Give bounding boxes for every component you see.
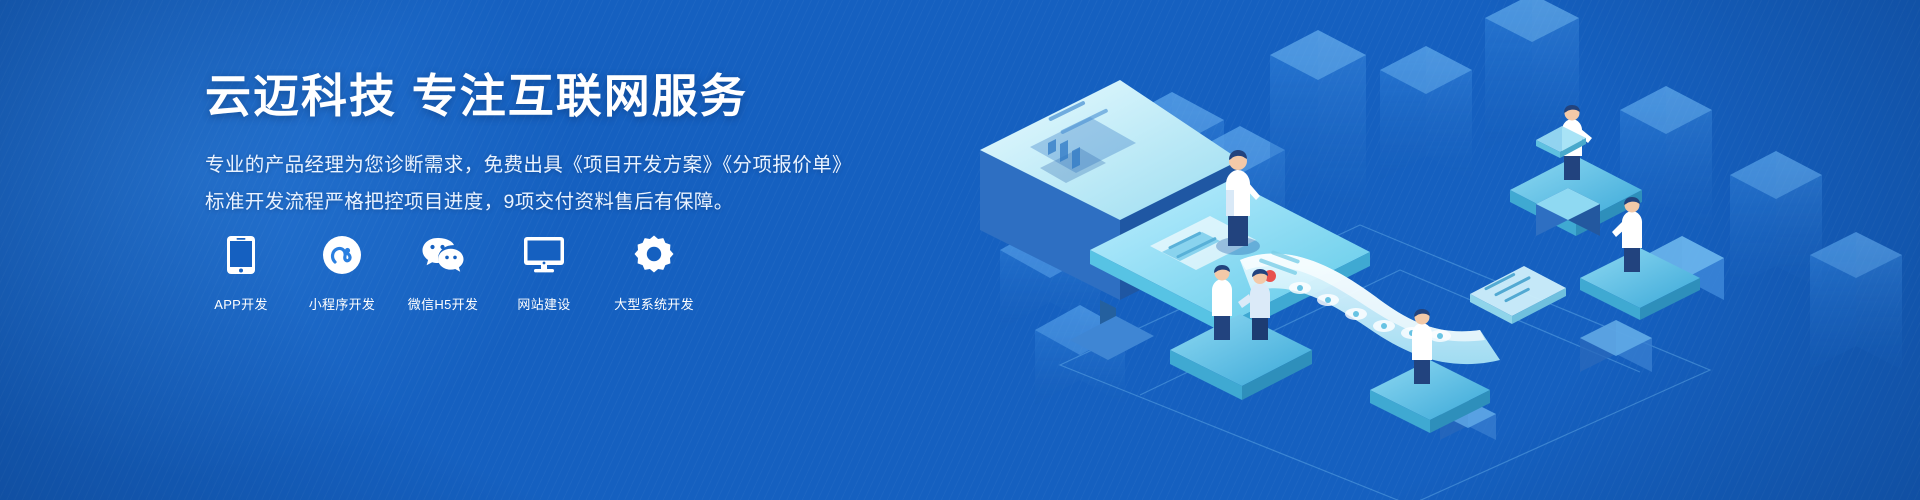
service-item-wechat-h5[interactable]: 微信H5开发	[407, 232, 479, 313]
banner-subtitle-line-1: 专业的产品经理为您诊断需求，免费出具《项目开发方案》《分项报价单》	[205, 148, 965, 183]
banner-content: 云迈科技 专注互联网服务 专业的产品经理为您诊断需求，免费出具《项目开发方案》《…	[205, 68, 965, 220]
gear-icon	[631, 232, 677, 278]
service-label-app: APP开发	[214, 294, 268, 313]
phone-icon	[218, 232, 264, 278]
service-item-app[interactable]: APP开发	[205, 232, 277, 313]
service-item-mini-program[interactable]: 小程序开发	[306, 232, 378, 313]
hero-banner: 云迈科技 专注互联网服务 专业的产品经理为您诊断需求，免费出具《项目开发方案》《…	[0, 0, 1920, 500]
service-item-large-system[interactable]: 大型系统开发	[609, 232, 699, 313]
service-label-large-system: 大型系统开发	[614, 294, 694, 313]
service-label-wechat-h5: 微信H5开发	[408, 294, 478, 313]
banner-headline: 云迈科技 专注互联网服务	[205, 68, 965, 126]
banner-subtitle-line-2: 标准开发流程严格把控项目进度，9项交付资料售后有保障。	[205, 185, 965, 220]
isometric-tech-city-illustration	[940, 0, 1920, 500]
service-label-mini-program: 小程序开发	[309, 294, 376, 313]
wechat-icon	[420, 232, 466, 278]
service-list: APP开发 小程序开发	[205, 232, 728, 313]
mini-program-icon	[319, 232, 365, 278]
service-label-website: 网站建设	[517, 294, 570, 313]
service-item-website[interactable]: 网站建设	[508, 232, 580, 313]
monitor-icon	[521, 232, 567, 278]
